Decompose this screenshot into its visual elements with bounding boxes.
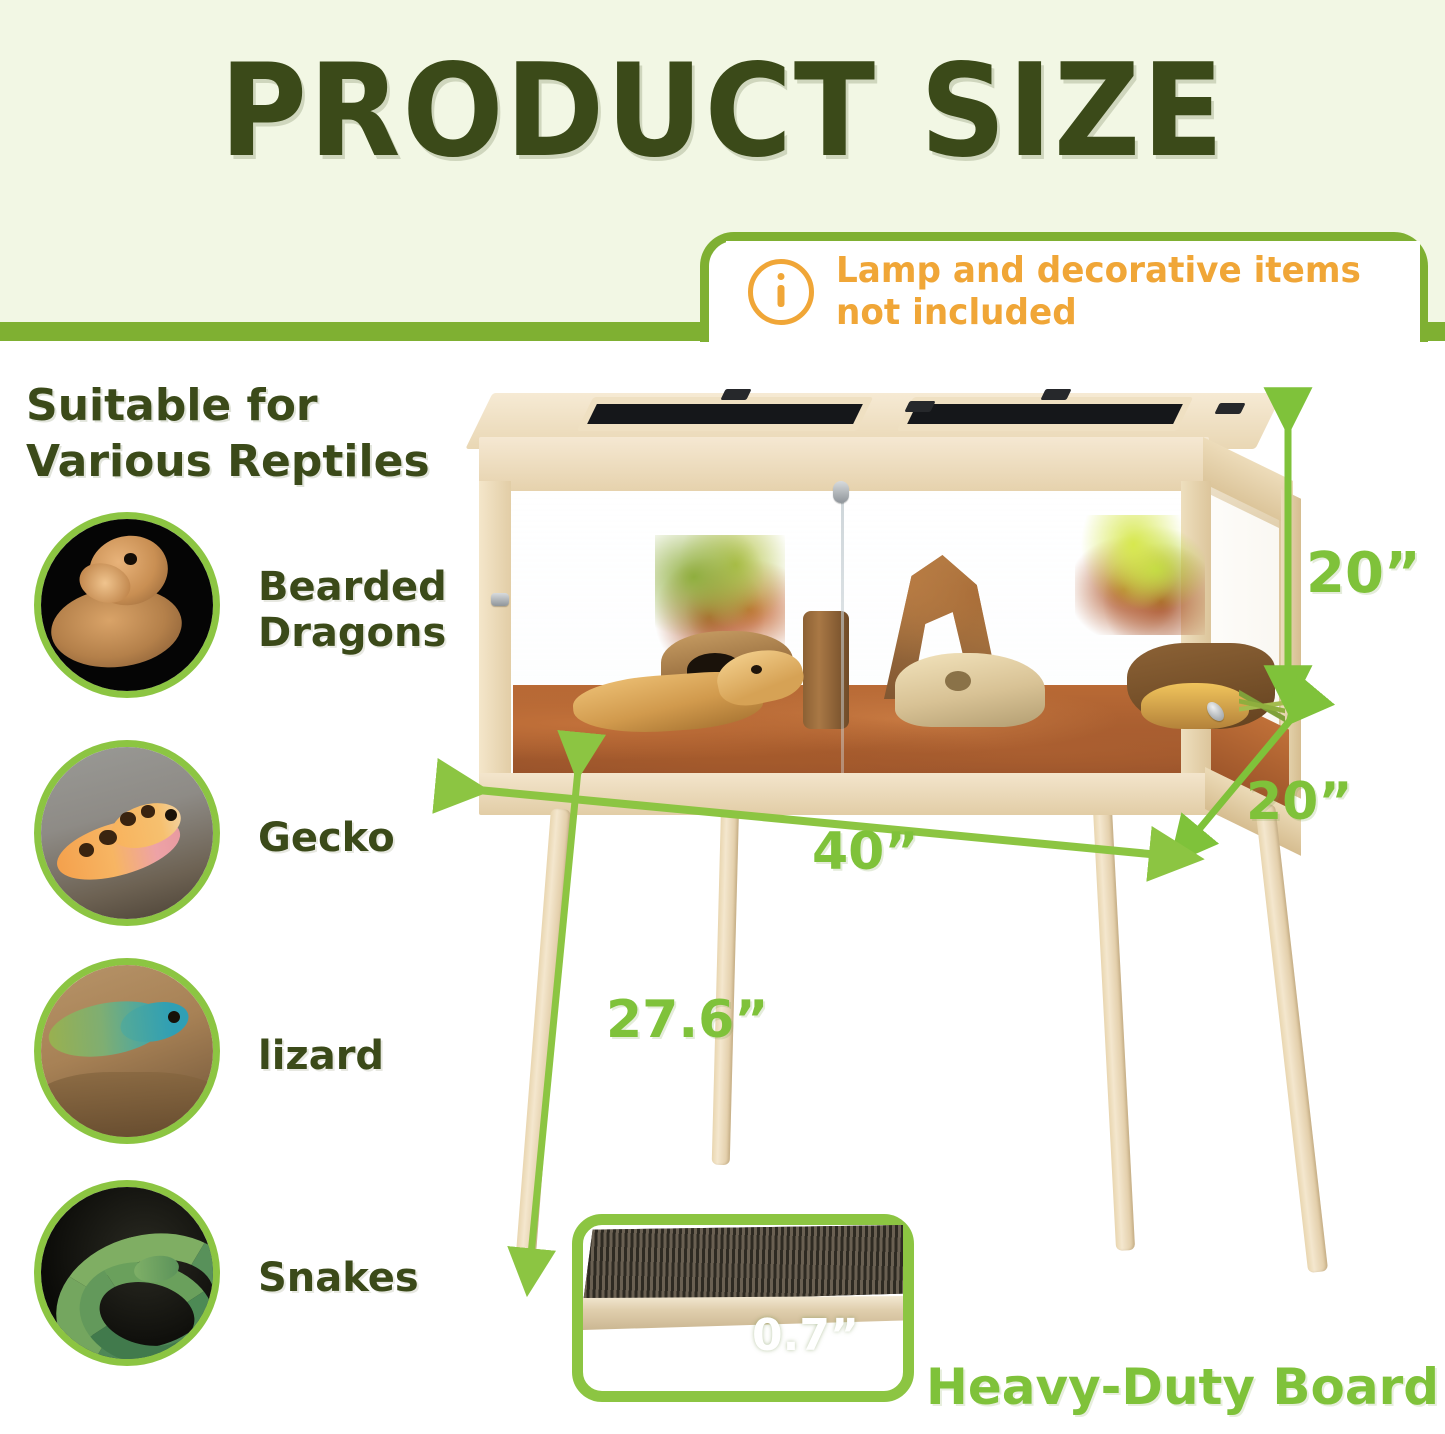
glass-door-seam [841,495,844,781]
leg-front-right [1255,804,1328,1273]
hinge-icon [1040,389,1071,400]
info-circle-icon [748,259,814,325]
frame-post-left [479,481,511,791]
door-latch-icon[interactable] [833,481,849,503]
dimension-height-label: 20” [1306,541,1421,606]
sidebar-heading-line-2: Various Reptiles [26,434,446,490]
gecko-photo [34,740,220,926]
notice-line-1: Lamp and decorative items [836,250,1361,291]
hinge-icon [904,401,935,412]
decor-grass-tuft [1239,677,1285,735]
notice-text: Lamp and decorative items not included [836,250,1361,333]
list-item-label: Snakes [258,1255,478,1301]
notice-box: Lamp and decorative items not included [726,241,1420,342]
mesh-screen-right [897,397,1194,431]
list-item-label: lizard [258,1033,478,1079]
dimension-leg-height-label: 27.6” [606,990,768,1050]
bearded-dragon-eye [751,665,762,674]
sidebar-heading-line-1: Suitable for [26,378,446,434]
bearded-dragon-photo [34,512,220,698]
decor-skull [895,653,1045,727]
list-item: lizard [26,958,446,1154]
leg-rear-left [712,809,739,1165]
lizard-photo [34,958,220,1144]
mesh-screen-left [577,397,874,431]
divider-bar-left [0,322,707,341]
decor-water-bowl [1141,683,1249,729]
infographic-canvas: PRODUCT SIZE Lamp and decorative items n… [0,0,1445,1434]
list-item-label: Bearded Dragons [258,564,478,656]
list-item-label: Gecko [258,815,478,861]
heavy-duty-board-label: Heavy-Duty Board [926,1358,1439,1416]
list-item: Snakes [26,1180,446,1376]
decor-plant-right [1075,515,1205,635]
dimension-depth-label: 20” [1246,772,1353,832]
list-item: Bearded Dragons [26,512,446,708]
leg-rear-right [1093,809,1135,1251]
door-knob-left[interactable] [491,593,509,606]
notice-line-2: not included [836,292,1361,333]
hinge-icon [1214,403,1245,414]
board-top-texture [583,1225,903,1303]
leg-front-left [515,808,571,1266]
page-title: PRODUCT SIZE [51,48,1395,176]
list-item: Gecko [26,740,446,936]
dimension-board-thickness-label: 0.7” [752,1310,859,1361]
hinge-icon [720,389,751,400]
sidebar-heading: Suitable for Various Reptiles [26,378,446,491]
dimension-width-label: 40” [812,822,919,882]
decor-skull-eye [945,671,971,691]
base-rail [479,773,1211,815]
snake-photo [34,1180,220,1366]
